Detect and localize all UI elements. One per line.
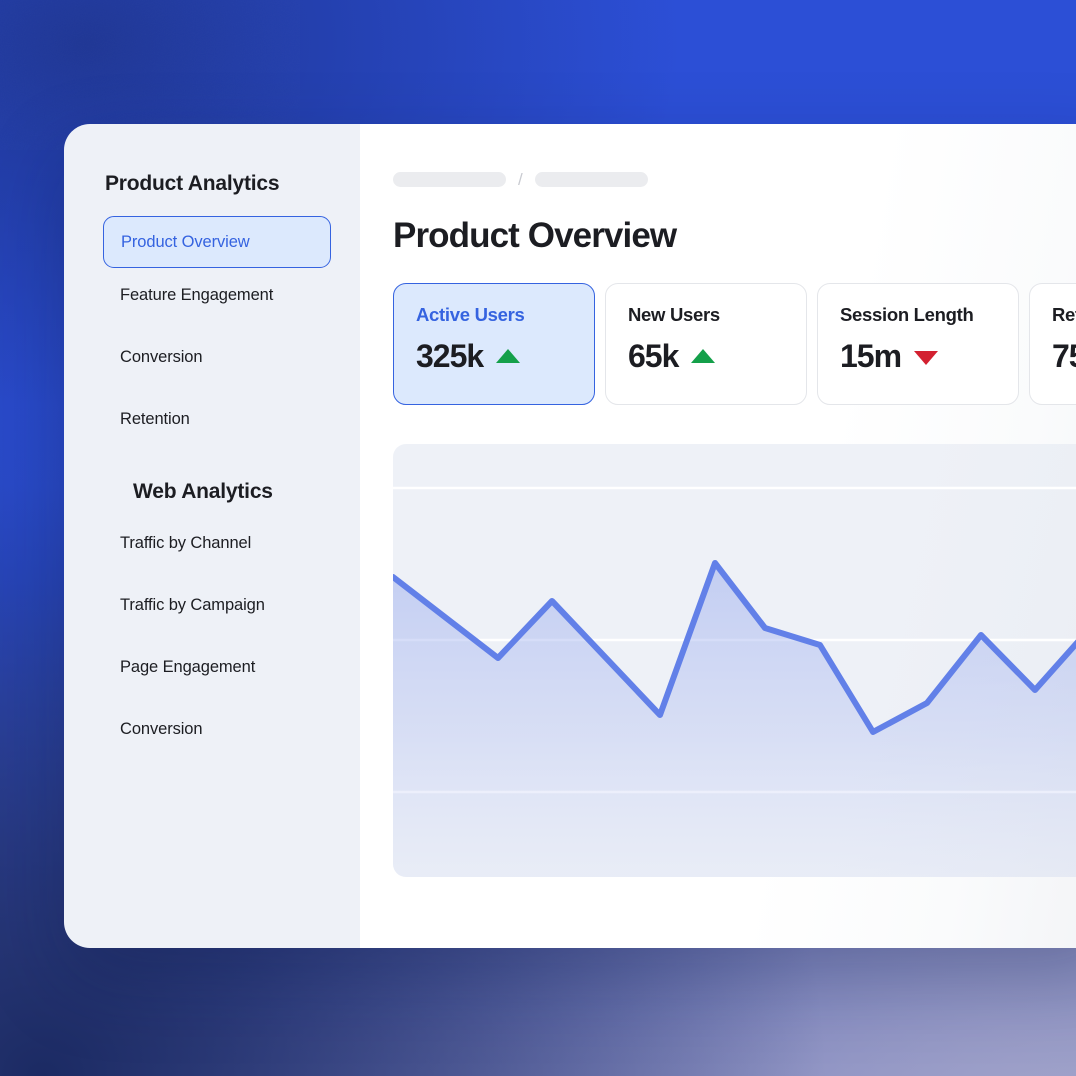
kpi-label: Session Length xyxy=(840,304,1018,326)
sidebar-item-traffic-by-campaign[interactable]: Traffic by Campaign xyxy=(64,588,360,622)
kpi-label: Retention xyxy=(1052,304,1076,326)
sidebar-item-conversion-web[interactable]: Conversion xyxy=(64,712,360,746)
kpi-value-row: 325k xyxy=(416,338,594,375)
kpi-card-new-users[interactable]: New Users 65k xyxy=(605,283,807,405)
sidebar: Product Analytics Product Overview Featu… xyxy=(64,124,360,948)
sidebar-item-product-overview[interactable]: Product Overview xyxy=(103,216,331,268)
kpi-value: 325k xyxy=(416,338,483,375)
chart-area-fill xyxy=(393,563,1076,877)
activity-area-chart-panel[interactable] xyxy=(393,444,1076,877)
breadcrumb: / xyxy=(393,171,1076,188)
sidebar-group-title-product-analytics: Product Analytics xyxy=(64,172,360,196)
breadcrumb-separator: / xyxy=(518,171,523,188)
sidebar-item-feature-engagement[interactable]: Feature Engagement xyxy=(64,278,360,312)
sidebar-item-label: Product Overview xyxy=(121,233,250,251)
kpi-label: Active Users xyxy=(416,304,594,326)
kpi-label: New Users xyxy=(628,304,806,326)
sidebar-group-web-analytics: Web Analytics Traffic by Channel Traffic… xyxy=(64,480,360,746)
kpi-value-row: 15m xyxy=(840,338,1018,375)
breadcrumb-item-placeholder-1[interactable] xyxy=(393,172,506,187)
sidebar-group-title-web-analytics: Web Analytics xyxy=(64,480,360,504)
sidebar-item-page-engagement[interactable]: Page Engagement xyxy=(64,650,360,684)
sidebar-item-label: Retention xyxy=(120,410,190,428)
sidebar-item-label: Page Engagement xyxy=(120,658,255,676)
sidebar-item-retention[interactable]: Retention xyxy=(64,402,360,436)
sidebar-item-label: Traffic by Campaign xyxy=(120,596,265,614)
analytics-app-window: Product Analytics Product Overview Featu… xyxy=(64,124,1076,948)
trend-down-icon xyxy=(914,351,938,365)
page-title: Product Overview xyxy=(393,216,1076,256)
kpi-value: 75% xyxy=(1052,338,1076,375)
trend-up-icon xyxy=(496,349,520,363)
kpi-value-row: 65k xyxy=(628,338,806,375)
breadcrumb-item-placeholder-2[interactable] xyxy=(535,172,648,187)
sidebar-item-label: Conversion xyxy=(120,348,202,366)
kpi-card-session-length[interactable]: Session Length 15m xyxy=(817,283,1019,405)
sidebar-item-label: Conversion xyxy=(120,720,202,738)
kpi-card-active-users[interactable]: Active Users 325k xyxy=(393,283,595,405)
sidebar-item-label: Feature Engagement xyxy=(120,286,273,304)
kpi-value: 15m xyxy=(840,338,901,375)
sidebar-group-product-analytics: Product Analytics Product Overview Featu… xyxy=(64,172,360,436)
area-chart-svg xyxy=(393,444,1076,877)
sidebar-item-traffic-by-channel[interactable]: Traffic by Channel xyxy=(64,526,360,560)
kpi-card-retention[interactable]: Retention 75% xyxy=(1029,283,1076,405)
kpi-card-row: Active Users 325k New Users 65k Session … xyxy=(393,283,1076,405)
main-content: / Product Overview Active Users 325k New… xyxy=(360,124,1076,948)
sidebar-item-label: Traffic by Channel xyxy=(120,534,251,552)
kpi-value-row: 75% xyxy=(1052,338,1076,375)
trend-up-icon xyxy=(691,349,715,363)
app-backdrop: Product Analytics Product Overview Featu… xyxy=(0,0,1076,1076)
kpi-value: 65k xyxy=(628,338,678,375)
sidebar-item-conversion-product[interactable]: Conversion xyxy=(64,340,360,374)
